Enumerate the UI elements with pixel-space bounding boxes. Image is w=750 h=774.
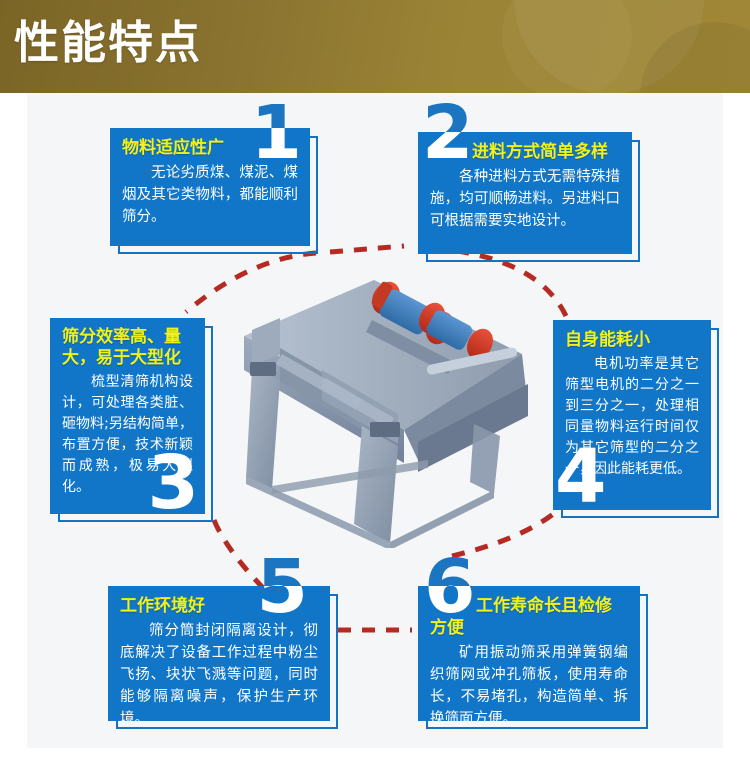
feature-card-1-body: 1 物料适应性广 无论劣质煤、煤泥、煤烟及其它类物料，都能顺利筛分。 bbox=[110, 128, 310, 246]
feature-card-1-title: 物料适应性广 bbox=[122, 137, 298, 159]
feature-card-2-text: 各种进料方式无需特殊措施，均可顺畅进料。另进料口可根据需要实地设计。 bbox=[430, 166, 620, 232]
feature-card-1[interactable]: 1 1 物料适应性广 无论劣质煤、煤泥、煤烟及其它类物料，都能顺利筛分。 bbox=[110, 128, 310, 246]
feature-card-4[interactable]: 4 自身能耗小 电机功率是其它筛型电机的二分之一到三分之一，处理相同量物料运行时… bbox=[553, 320, 711, 510]
header-decoration-circle-medium bbox=[502, 0, 632, 93]
feature-card-2-body: 2 进料方式简单多样 各种进料方式无需特殊措施，均可顺畅进料。另进料口可根据需要… bbox=[418, 132, 632, 254]
feature-card-2[interactable]: 2 2 进料方式简单多样 各种进料方式无需特殊措施，均可顺畅进料。另进料口可根据… bbox=[418, 132, 632, 254]
feature-card-6-text: 矿用振动筛采用弹簧钢编织筛网或冲孔筛板，使用寿命长，不易堵孔，构造简单、拆换筛面… bbox=[430, 642, 628, 721]
feature-card-3-text: 梳型清筛机构设计，可处理各类脏、砸物料;另结构简单，布置方便，技术新颖而成熟，极… bbox=[62, 372, 193, 498]
feature-card-5-body: 5 工作环境好 筛分筒封闭隔离设计，彻底解决了设备工作过程中粉尘飞扬、块状飞溅等… bbox=[108, 586, 330, 721]
feature-card-6[interactable]: 6 6 工作寿命长且检修方便 矿用振动筛采用弹簧钢编织筛网或冲孔筛板，使用寿命长… bbox=[418, 586, 640, 721]
feature-card-3-body: 3 筛分效率高、量大，易于大型化 梳型清筛机构设计，可处理各类脏、砸物料;另结构… bbox=[50, 318, 205, 514]
feature-card-3[interactable]: 3 筛分效率高、量大，易于大型化 梳型清筛机构设计，可处理各类脏、砸物料;另结构… bbox=[50, 318, 205, 514]
feature-card-6-title: 工作寿命长且检修方便 bbox=[430, 595, 628, 639]
feature-card-4-body: 4 自身能耗小 电机功率是其它筛型电机的二分之一到三分之一，处理相同量物料运行时… bbox=[553, 320, 711, 510]
product-photo-vibrating-screen bbox=[222, 258, 552, 548]
page-title: 性能特点 bbox=[14, 13, 202, 73]
header-banner: 性能特点 bbox=[0, 0, 750, 93]
feature-card-4-title: 自身能耗小 bbox=[565, 329, 699, 351]
feature-card-5-title: 工作环境好 bbox=[120, 595, 318, 617]
feature-card-6-body: 6 工作寿命长且检修方便 矿用振动筛采用弹簧钢编织筛网或冲孔筛板，使用寿命长，不… bbox=[418, 586, 640, 721]
feature-card-5[interactable]: 5 5 工作环境好 筛分筒封闭隔离设计，彻底解决了设备工作过程中粉尘飞扬、块状飞… bbox=[108, 586, 330, 721]
feature-card-1-text: 无论劣质煤、煤泥、煤烟及其它类物料，都能顺利筛分。 bbox=[122, 162, 298, 228]
feature-card-5-text: 筛分筒封闭隔离设计，彻底解决了设备工作过程中粉尘飞扬、块状飞溅等问题，同时能够隔… bbox=[120, 620, 318, 721]
feature-card-2-title: 进料方式简单多样 bbox=[430, 141, 620, 163]
feature-card-3-title: 筛分效率高、量大，易于大型化 bbox=[62, 327, 193, 369]
feature-card-4-text: 电机功率是其它筛型电机的二分之一到三分之一，处理相同量物料运行时间仅为其它筛型的… bbox=[565, 354, 699, 480]
performance-features-infographic: 性能特点 bbox=[0, 0, 750, 774]
